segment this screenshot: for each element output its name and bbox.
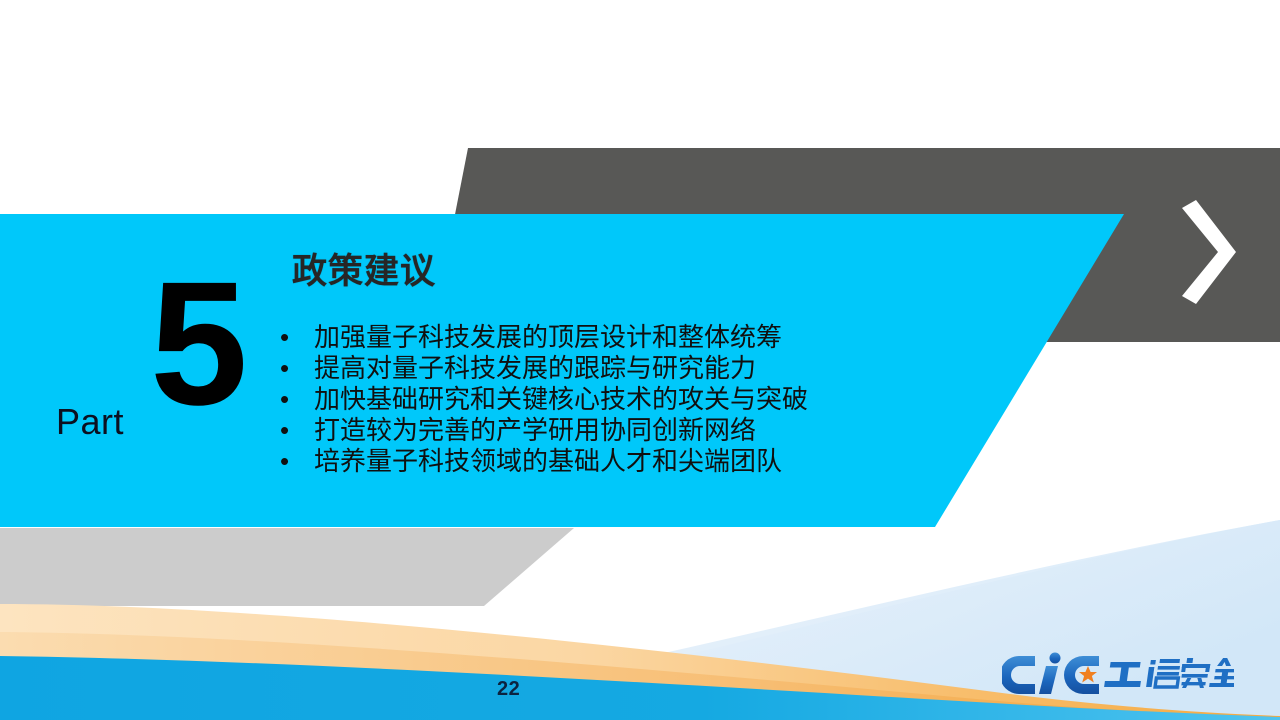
logo-star-icon [1079,666,1097,683]
light-gray-band [0,528,574,606]
bullet-marker-icon: • [280,446,289,477]
bullet-marker-icon: • [280,322,289,353]
page-title: 政策建议 [292,252,436,292]
dark-gray-band [430,148,1280,342]
bullet-marker-icon: • [280,353,289,384]
list-item: • 加快基础研究和关键核心技术的攻关与突破 [276,384,916,415]
list-item-label: 加快基础研究和关键核心技术的攻关与突破 [314,384,808,414]
list-item-label: 加强量子科技发展的顶层设计和整体统筹 [314,322,782,352]
logo-letter-c2 [1064,656,1099,694]
page-number: 22 [497,678,520,701]
part-label: Part [56,404,124,440]
logo-letter-c1 [1002,656,1035,694]
presentation-slide: Part 5 政策建议 • 加强量子科技发展的顶层设计和整体统筹 • 提高对量子… [0,0,1280,720]
list-item-label: 提高对量子科技发展的跟踪与研究能力 [314,353,756,383]
logo-letter-i [1039,666,1058,694]
list-item: • 培养量子科技领域的基础人才和尖端团队 [276,446,916,477]
logo-letter-i-dot [1050,653,1061,664]
chevron-right-icon [1174,200,1240,304]
company-logo [1002,652,1234,696]
policy-recommendation-list: • 加强量子科技发展的顶层设计和整体统筹 • 提高对量子科技发展的跟踪与研究能力… [276,322,916,477]
bullet-marker-icon: • [280,415,289,446]
list-item-label: 打造较为完善的产学研用协同创新网络 [314,415,756,445]
bullet-marker-icon: • [280,384,289,415]
list-item: • 加强量子科技发展的顶层设计和整体统筹 [276,322,916,353]
part-number: 5 [150,272,246,416]
list-item-label: 培养量子科技领域的基础人才和尖端团队 [314,446,782,476]
list-item: • 提高对量子科技发展的跟踪与研究能力 [276,353,916,384]
list-item: • 打造较为完善的产学研用协同创新网络 [276,415,916,446]
logo-text-cjk [1104,658,1234,688]
